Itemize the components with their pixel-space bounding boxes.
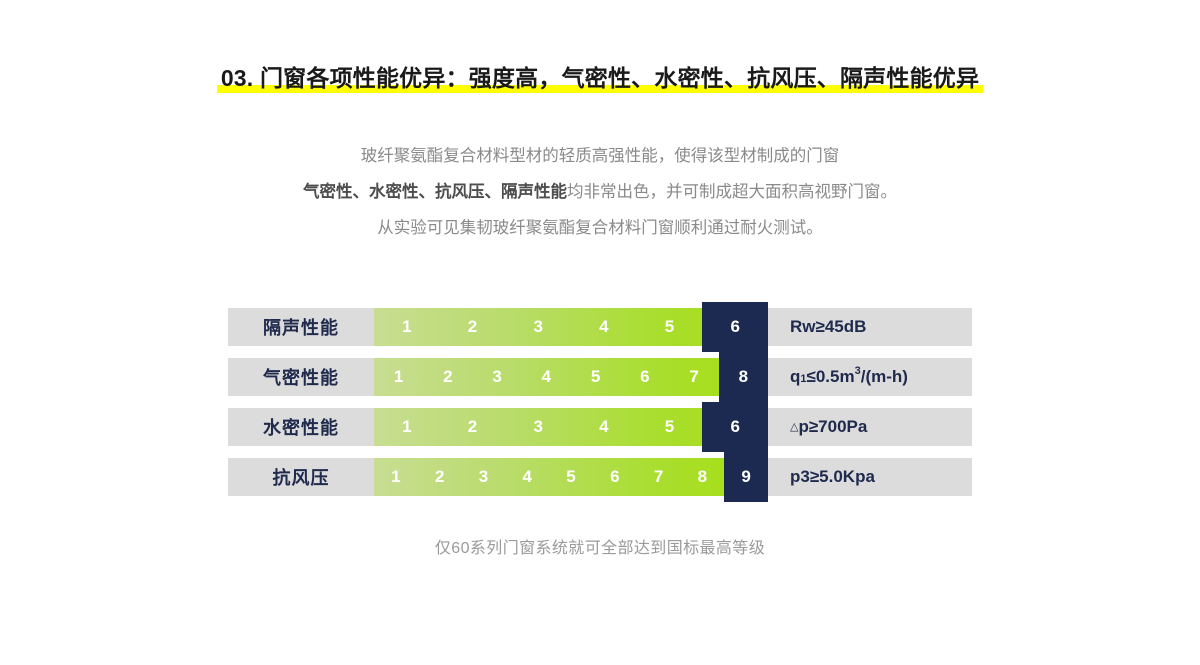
row-value-text: p3≥5.0Kpa [790,467,875,487]
row-value-superscript: 3 [855,365,861,377]
performance-row-water-tightness: 水密性能 1 2 3 4 5 6 △p≥700Pa [228,408,972,446]
level-scale: 1 2 3 4 5 6 [374,408,768,446]
paragraph-line-2: 气密性、水密性、抗风压、隔声性能均非常出色，并可制成超大面积高视野门窗。 [0,174,1200,210]
level-cell-3: 3 [505,308,571,346]
delta-symbol: △ [790,420,798,433]
row-label: 气密性能 [228,358,374,396]
level-cell-3: 3 [505,408,571,446]
chart-caption: 仅60系列门窗系统就可全部达到国标最高等级 [0,534,1200,558]
level-cell-highlight: 6 [702,302,768,352]
page-title-text: 03. 门窗各项性能优异：强度高，气密性、水密性、抗风压、隔声性能优异 [221,65,979,91]
level-cell-1: 1 [374,408,440,446]
level-cell-8: 8 [680,458,724,496]
level-scale: 1 2 3 4 5 6 7 8 9 [374,458,768,496]
performance-row-sound-insulation: 隔声性能 1 2 3 4 5 6 Rw≥45dB [228,308,972,346]
level-cell-4: 4 [522,358,571,396]
row-label: 水密性能 [228,408,374,446]
performance-chart: 隔声性能 1 2 3 4 5 6 Rw≥45dB 气密性能 1 2 3 4 5 … [228,308,972,496]
paragraph-line-3: 从实验可见集韧玻纤聚氨酯复合材料门窗顺利通过耐火测试。 [0,210,1200,246]
row-value: q1≤0.5m3/(m-h) [768,358,972,396]
level-cell-5: 5 [637,308,703,346]
level-cell-highlight: 8 [719,352,768,402]
level-scale: 1 2 3 4 5 6 [374,308,768,346]
level-cell-highlight: 9 [724,452,768,502]
row-value-text-b: ≤0.5m [807,367,855,387]
row-value-subscript: 1 [800,373,806,385]
performance-row-air-tightness: 气密性能 1 2 3 4 5 6 7 8 q1≤0.5m3/(m-h) [228,358,972,396]
paragraph-line-2-rest: 均非常出色，并可制成超大面积高视野门窗。 [567,183,897,201]
row-value: p3≥5.0Kpa [768,458,972,496]
level-cell-2: 2 [423,358,472,396]
level-cell-highlight: 6 [702,402,768,452]
row-value: △p≥700Pa [768,408,972,446]
level-cell-1: 1 [374,458,418,496]
level-cell-4: 4 [505,458,549,496]
level-cell-1: 1 [374,308,440,346]
level-cell-7: 7 [670,358,719,396]
page-title: 03. 门窗各项性能优异：强度高，气密性、水密性、抗风压、隔声性能优异 [217,62,983,94]
intro-paragraph: 玻纤聚氨酯复合材料型材的轻质高强性能，使得该型材制成的门窗 气密性、水密性、抗风… [0,138,1200,246]
row-value: Rw≥45dB [768,308,972,346]
level-cell-2: 2 [418,458,462,496]
level-cell-7: 7 [637,458,681,496]
row-value-text: p≥700Pa [798,417,867,437]
level-cell-4: 4 [571,408,637,446]
paragraph-line-1: 玻纤聚氨酯复合材料型材的轻质高强性能，使得该型材制成的门窗 [0,138,1200,174]
level-cell-3: 3 [462,458,506,496]
page-title-container: 03. 门窗各项性能优异：强度高，气密性、水密性、抗风压、隔声性能优异 [0,62,1200,94]
row-label: 隔声性能 [228,308,374,346]
level-cell-2: 2 [440,308,506,346]
level-cell-6: 6 [593,458,637,496]
level-cell-5: 5 [549,458,593,496]
row-label: 抗风压 [228,458,374,496]
level-scale: 1 2 3 4 5 6 7 8 [374,358,768,396]
level-cell-4: 4 [571,308,637,346]
performance-row-wind-pressure: 抗风压 1 2 3 4 5 6 7 8 9 p3≥5.0Kpa [228,458,972,496]
level-cell-5: 5 [637,408,703,446]
level-cell-1: 1 [374,358,423,396]
level-cell-6: 6 [620,358,669,396]
row-value-text-a: q [790,367,800,387]
paragraph-line-2-bold: 气密性、水密性、抗风压、隔声性能 [303,183,567,201]
level-cell-2: 2 [440,408,506,446]
level-cell-5: 5 [571,358,620,396]
level-cell-3: 3 [473,358,522,396]
row-value-text: Rw≥45dB [790,317,866,337]
row-value-text-c: /(m-h) [861,367,908,387]
